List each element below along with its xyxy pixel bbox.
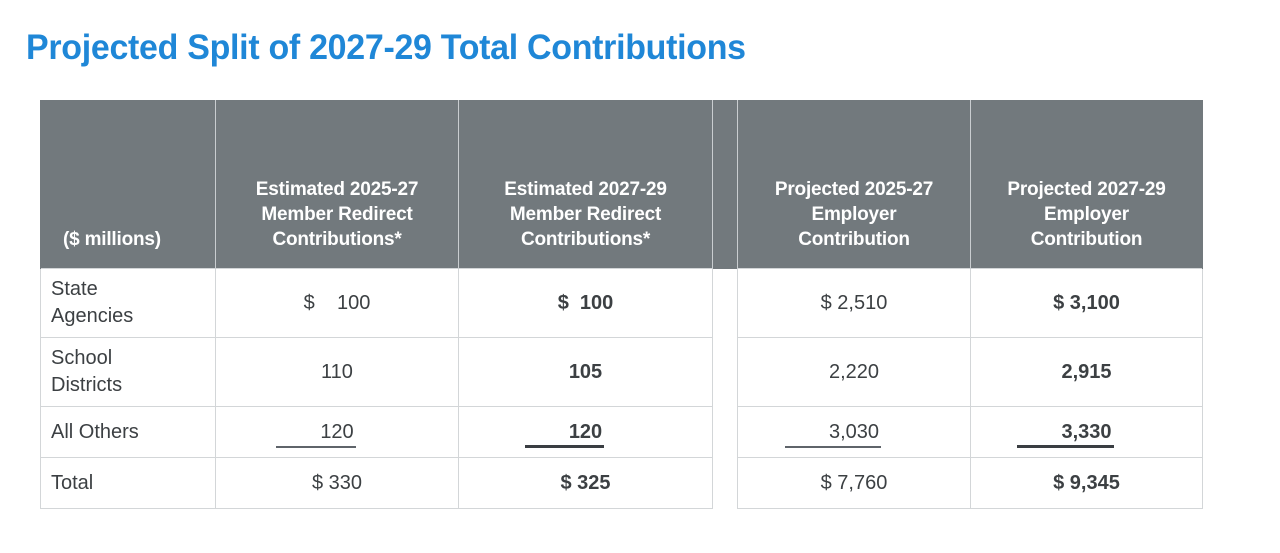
header-line-2: Employer — [812, 204, 897, 225]
cell-value: 3,330 — [1061, 421, 1111, 444]
header-line-3: Contribution — [798, 229, 910, 250]
header-line-1: Projected 2025-27 — [775, 179, 933, 200]
cell-value: 120 — [569, 421, 602, 444]
cell-projected-2025-27: $ 2,510 — [738, 269, 971, 338]
header-line-2: Member Redirect — [510, 204, 661, 225]
row-label-line: All Others — [51, 421, 139, 443]
page-title: Projected Split of 2027-29 Total Contrib… — [26, 26, 746, 70]
cell-projected-2027-29: $ 9,345 — [971, 458, 1203, 509]
cell-projected-2027-29: 2,915 — [971, 338, 1203, 407]
cell-estimated-2025-27: 110 — [216, 338, 459, 407]
cell-estimated-2025-27: $ 100 — [216, 269, 459, 338]
cell-value: $ 325 — [560, 472, 610, 495]
row-label-line: School — [51, 347, 112, 369]
column-header-projected-2025-27-employer: Projected 2025-27 Employer Contribution — [738, 100, 971, 269]
cell-value: 110 — [321, 361, 353, 384]
cell-spacer — [713, 407, 738, 458]
cell-value: $ 7,760 — [821, 472, 888, 495]
header-line-1: Estimated 2027-29 — [504, 179, 666, 200]
cell-value: 3,030 — [829, 421, 879, 444]
cell-value: $ 3,100 — [1053, 292, 1120, 315]
table-body: StateAgencies$ 100$ 100$ 2,510$ 3,100Sch… — [41, 269, 1203, 509]
header-line-2: Employer — [1044, 204, 1129, 225]
cell-spacer — [713, 338, 738, 407]
table-row: StateAgencies$ 100$ 100$ 2,510$ 3,100 — [41, 269, 1203, 338]
cell-value: 2,220 — [829, 361, 879, 384]
cell-value: $ 330 — [312, 472, 362, 495]
header-line-3: Contribution — [1031, 229, 1143, 250]
column-header-units: ($ millions) — [41, 100, 216, 269]
cell-estimated-2027-29: $ 325 — [459, 458, 713, 509]
cell-value: $ 100 — [558, 292, 614, 315]
cell-value: $ 9,345 — [1053, 472, 1120, 495]
column-header-projected-2027-29-employer: Projected 2027-29 Employer Contribution — [971, 100, 1203, 269]
row-label: Total — [41, 458, 216, 509]
row-label-line: State — [51, 278, 98, 300]
cell-spacer — [713, 458, 738, 509]
header-line-3: Contributions* — [272, 229, 401, 250]
cell-value: 2,915 — [1061, 361, 1111, 384]
row-label-line: Districts — [51, 374, 122, 396]
cell-value: $ 2,510 — [821, 292, 888, 315]
row-label: All Others — [41, 407, 216, 458]
cell-projected-2025-27: 3,030 — [738, 407, 971, 458]
contributions-table: ($ millions) Estimated 2025-27 Member Re… — [40, 100, 1203, 509]
cell-estimated-2025-27: $ 330 — [216, 458, 459, 509]
table-row: All Others1201203,0303,330 — [41, 407, 1203, 458]
cell-projected-2027-29: $ 3,100 — [971, 269, 1203, 338]
column-header-estimated-2025-27-member-redirect: Estimated 2025-27 Member Redirect Contri… — [216, 100, 459, 269]
table-row: SchoolDistricts1101052,2202,915 — [41, 338, 1203, 407]
cell-estimated-2027-29: $ 100 — [459, 269, 713, 338]
contributions-table-container: ($ millions) Estimated 2025-27 Member Re… — [40, 100, 1202, 509]
cell-projected-2025-27: 2,220 — [738, 338, 971, 407]
header-line-2: Member Redirect — [261, 204, 412, 225]
column-header-spacer — [713, 100, 738, 269]
row-label: StateAgencies — [41, 269, 216, 338]
cell-projected-2025-27: $ 7,760 — [738, 458, 971, 509]
cell-estimated-2025-27: 120 — [216, 407, 459, 458]
row-label-line: Agencies — [51, 305, 133, 327]
cell-projected-2027-29: 3,330 — [971, 407, 1203, 458]
row-label-line: Total — [51, 472, 93, 494]
header-line-1: Projected 2027-29 — [1007, 179, 1165, 200]
cell-value: 105 — [569, 361, 602, 384]
header-row: ($ millions) Estimated 2025-27 Member Re… — [41, 100, 1203, 269]
row-label: SchoolDistricts — [41, 338, 216, 407]
cell-estimated-2027-29: 120 — [459, 407, 713, 458]
table-header: ($ millions) Estimated 2025-27 Member Re… — [41, 100, 1203, 269]
column-header-estimated-2027-29-member-redirect: Estimated 2027-29 Member Redirect Contri… — [459, 100, 713, 269]
cell-value: $ 100 — [304, 292, 371, 315]
table-row: Total$ 330$ 325$ 7,760$ 9,345 — [41, 458, 1203, 509]
header-line-3: Contributions* — [521, 229, 650, 250]
cell-estimated-2027-29: 105 — [459, 338, 713, 407]
cell-value: 120 — [320, 421, 353, 444]
header-line-1: Estimated 2025-27 — [256, 179, 418, 200]
cell-spacer — [713, 269, 738, 338]
